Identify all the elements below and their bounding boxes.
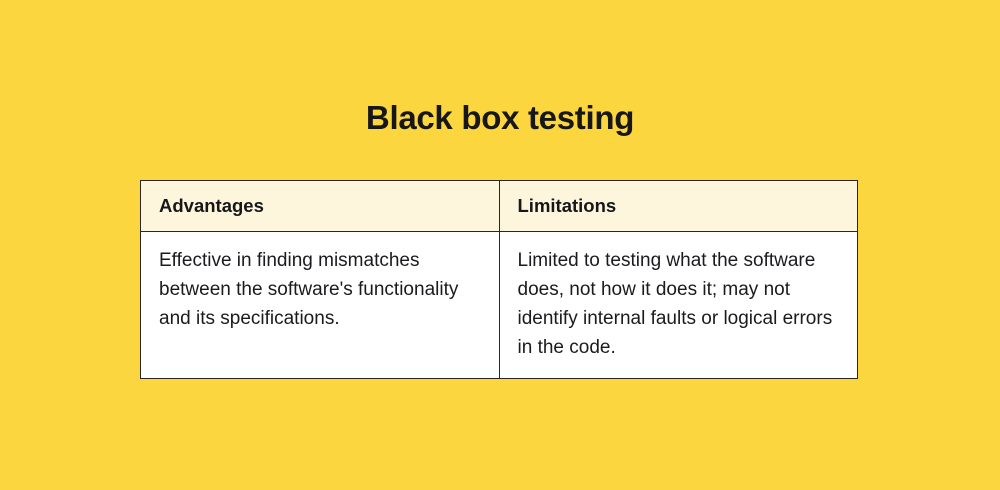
column-header-advantages: Advantages xyxy=(141,181,500,232)
page-title: Black box testing xyxy=(0,96,1000,140)
column-header-limitations: Limitations xyxy=(499,181,858,232)
cell-limitations-text: Limited to testing what the software doe… xyxy=(500,232,858,378)
cell-limitations: Limited to testing what the software doe… xyxy=(499,232,858,379)
table-header-row: Advantages Limitations xyxy=(141,181,858,232)
slide-canvas: Black box testing Advantages Limitations… xyxy=(0,0,1000,490)
table-header: Advantages Limitations xyxy=(141,181,858,232)
table-body: Effective in finding mismatches between … xyxy=(141,232,858,379)
cell-advantages-text: Effective in finding mismatches between … xyxy=(141,232,499,349)
cell-advantages: Effective in finding mismatches between … xyxy=(141,232,500,379)
black-box-testing-comparison-table: Advantages Limitations Effective in find… xyxy=(140,180,858,379)
column-header-limitations-label: Limitations xyxy=(500,181,858,231)
table-row: Effective in finding mismatches between … xyxy=(141,232,858,379)
column-header-advantages-label: Advantages xyxy=(141,181,499,231)
